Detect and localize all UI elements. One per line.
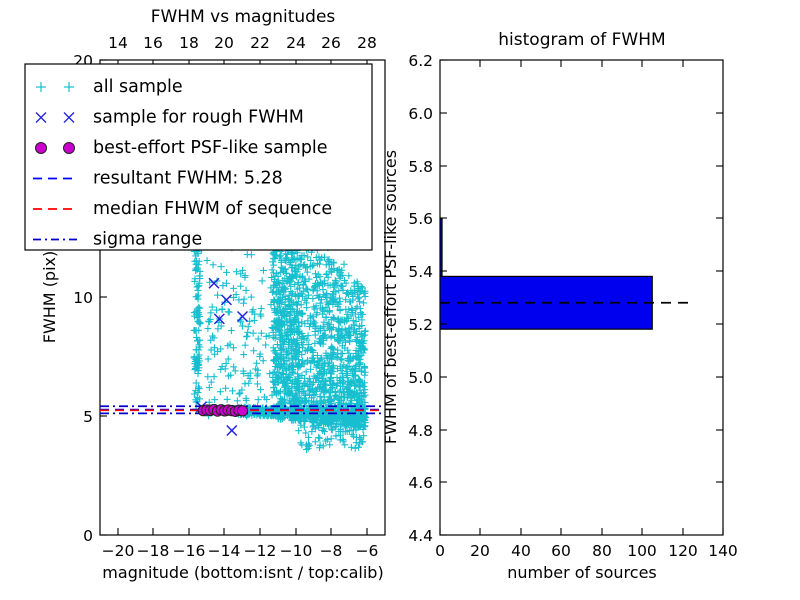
right-panel-title: histogram of FWHM <box>498 30 665 50</box>
scatter-point-plus <box>230 363 237 370</box>
scatter-point-plus <box>244 251 251 258</box>
scatter-point-plus <box>226 309 233 316</box>
left-ylabel: FWHM (pix) <box>40 251 59 344</box>
scatter-point-plus <box>266 370 273 377</box>
scatter-point-plus <box>340 261 347 268</box>
scatter-point-plus <box>356 294 363 301</box>
scatter-point-plus <box>304 286 311 293</box>
scatter-point-plus <box>305 332 312 339</box>
scatter-point-plus <box>269 324 276 331</box>
scatter-point-plus <box>251 317 258 324</box>
scatter-point-plus <box>254 372 261 379</box>
scatter-point-plus <box>214 292 221 299</box>
xtick-bottom-4: −12 <box>244 542 277 560</box>
scatter-point-plus <box>229 387 236 394</box>
scatter-point-cross <box>227 426 237 436</box>
hist-ytick-6: 5.6 <box>408 210 433 228</box>
scatter-point-plus <box>345 272 352 279</box>
scatter-point-plus <box>218 263 225 270</box>
hist-xtick-7: 140 <box>708 542 738 560</box>
scatter-point-plus <box>232 367 239 374</box>
scatter-point-plus <box>237 283 244 290</box>
scatter-point-plus <box>269 266 276 273</box>
xtick-bottom-6: −8 <box>320 542 343 560</box>
scatter-point-plus <box>257 386 264 393</box>
scatter-point-plus <box>309 295 316 302</box>
scatter-point-plus <box>307 257 314 264</box>
scatter-point-plus <box>204 373 211 380</box>
scatter-point-plus <box>191 391 198 398</box>
right-xlabel: number of sources <box>507 563 657 582</box>
right-top-ticks <box>480 60 683 67</box>
scatter-point-plus <box>234 397 241 404</box>
hist-xtick-2: 40 <box>511 542 531 560</box>
scatter-point-plus <box>262 341 269 348</box>
scatter-point-cross <box>221 295 231 305</box>
scatter-point-plus <box>254 381 261 388</box>
scatter-point-plus <box>210 261 217 268</box>
xtick-top-4: 22 <box>250 34 270 52</box>
hist-xtick-4: 80 <box>592 542 612 560</box>
scatter-point-plus <box>245 380 252 387</box>
scatter-point-plus <box>269 289 276 296</box>
xtick-bottom-7: −6 <box>356 542 379 560</box>
right-bottom-ticklabels: 0 20 40 60 80 100 120 140 <box>435 542 738 560</box>
scatter-point-plus <box>195 319 202 326</box>
legend-marker-circle <box>64 143 75 154</box>
scatter-point-plus <box>260 357 267 364</box>
scatter-point-plus <box>253 360 260 367</box>
right-ylabel: FWHM of best-effort PSF-like sources <box>381 150 400 444</box>
plot-canvas: FWHM vs magnitudes <box>0 0 800 600</box>
scatter-point-plus <box>360 299 367 306</box>
scatter-point-plus <box>213 307 220 314</box>
scatter-point-plus <box>260 267 267 274</box>
scatter-point-plus <box>250 347 257 354</box>
scatter-point-plus <box>325 258 332 265</box>
hist-ytick-7: 5.8 <box>408 158 433 176</box>
left-bottom-ticks <box>118 528 367 535</box>
ytick-5: 5 <box>83 408 93 426</box>
legend-marker-circle <box>36 143 47 154</box>
scatter-point-plus <box>326 307 333 314</box>
scatter-point-plus <box>250 330 257 337</box>
scatter-point-plus <box>312 438 319 445</box>
xtick-bottom-2: −16 <box>173 542 206 560</box>
scatter-point-plus <box>346 338 353 345</box>
xtick-bottom-3: −14 <box>208 542 241 560</box>
histogram-bar <box>440 218 442 276</box>
scatter-point-plus <box>223 269 230 276</box>
scatter-point-plus <box>255 396 262 403</box>
scatter-point-plus <box>248 294 255 301</box>
legend: all samplesample for rough FWHMbest-effo… <box>25 64 372 250</box>
scatter-point-plus <box>217 388 224 395</box>
right-panel-data <box>440 218 693 329</box>
hist-ytick-5: 5.4 <box>408 263 433 281</box>
hist-ytick-3: 5.0 <box>408 369 433 387</box>
legend-label: sample for rough FWHM <box>93 108 304 128</box>
scatter-point-plus <box>302 399 309 406</box>
scatter-point-plus <box>258 277 265 284</box>
scatter-point-plus <box>319 427 326 434</box>
scatter-point-plus <box>352 445 359 452</box>
scatter-point-plus <box>204 257 211 264</box>
scatter-point-plus <box>305 292 312 299</box>
hist-ytick-8: 6.0 <box>408 105 433 123</box>
scatter-point-plus <box>237 390 244 397</box>
scatter-point-plus <box>310 262 317 269</box>
scatter-point-plus <box>222 385 229 392</box>
scatter-point-plus <box>272 335 279 342</box>
hist-ytick-1: 4.6 <box>408 474 433 492</box>
scatter-point-plus <box>304 254 311 261</box>
figure-root: FWHM vs magnitudes <box>0 0 800 600</box>
hist-ytick-2: 4.8 <box>408 422 433 440</box>
xtick-top-7: 28 <box>357 34 377 52</box>
ytick-0: 0 <box>83 527 93 545</box>
scatter-point-plus <box>270 262 277 269</box>
scatter-point-plus <box>230 285 237 292</box>
right-bottom-ticks <box>440 528 723 535</box>
xtick-top-3: 20 <box>214 34 234 52</box>
xtick-top-1: 16 <box>143 34 163 52</box>
scatter-point-plus <box>242 287 249 294</box>
hist-ytick-0: 4.4 <box>408 527 433 545</box>
xtick-top-0: 14 <box>108 34 128 52</box>
scatter-point-cross <box>209 278 219 288</box>
left-panel-title: FWHM vs magnitudes <box>151 7 336 27</box>
scatter-point-plus <box>258 305 265 312</box>
scatter-point-plus <box>255 336 262 343</box>
hist-xtick-3: 60 <box>551 542 571 560</box>
scatter-point-plus <box>207 309 214 316</box>
scatter-point-plus <box>240 351 247 358</box>
scatter-point-plus <box>339 283 346 290</box>
left-xlabel: magnitude (bottom:isnt / top:calib) <box>102 563 383 582</box>
xtick-bottom-5: −10 <box>280 542 313 560</box>
right-y-ticklabels: 4.4 4.6 4.8 5.0 5.2 5.4 5.6 5.8 6.0 6.2 <box>408 52 433 545</box>
scatter-point-plus <box>205 356 212 363</box>
left-bottom-ticklabels: −20 −18 −16 −14 −12 −10 −8 −6 <box>102 542 379 560</box>
legend-label: median FHWM of sequence <box>93 199 332 219</box>
hist-xtick-0: 0 <box>435 542 445 560</box>
hist-xtick-6: 120 <box>668 542 698 560</box>
legend-label: sigma range <box>93 230 202 250</box>
scatter-point-plus <box>228 327 235 334</box>
scatter-point-plus <box>316 435 323 442</box>
scatter-point-plus <box>348 444 355 451</box>
hist-ytick-9: 6.2 <box>408 52 433 70</box>
legend-label: all sample <box>93 77 183 97</box>
xtick-top-6: 26 <box>321 34 341 52</box>
xtick-bottom-1: −18 <box>137 542 170 560</box>
scatter-point-plus <box>350 433 357 440</box>
scatter-point-plus <box>239 322 246 329</box>
scatter-point-plus <box>245 323 252 330</box>
scatter-point-plus <box>242 342 249 349</box>
left-top-ticklabels: 14 16 18 20 22 24 26 28 <box>108 34 377 52</box>
scatter-point-plus <box>244 333 251 340</box>
hist-xtick-5: 100 <box>627 542 657 560</box>
scatter-point-plus <box>224 396 231 403</box>
scatter-point-plus <box>209 303 216 310</box>
xtick-top-5: 24 <box>286 34 306 52</box>
scatter-point-plus <box>320 286 327 293</box>
right-panel: histogram of FWHM <box>381 30 738 582</box>
hist-ytick-4: 5.2 <box>408 316 433 334</box>
scatter-point-plus <box>241 296 248 303</box>
xtick-top-2: 18 <box>179 34 199 52</box>
legend-label: resultant FWHM: 5.28 <box>93 169 283 189</box>
scatter-point-plus <box>258 330 265 337</box>
legend-label: best-effort PSF-like sample <box>93 138 328 158</box>
hist-xtick-1: 20 <box>470 542 490 560</box>
ytick-10: 10 <box>73 289 93 307</box>
xtick-bottom-0: −20 <box>102 542 135 560</box>
scatter-point-plus <box>219 306 226 313</box>
scatter-point-plus <box>204 325 211 332</box>
scatter-point-psf <box>237 406 247 416</box>
